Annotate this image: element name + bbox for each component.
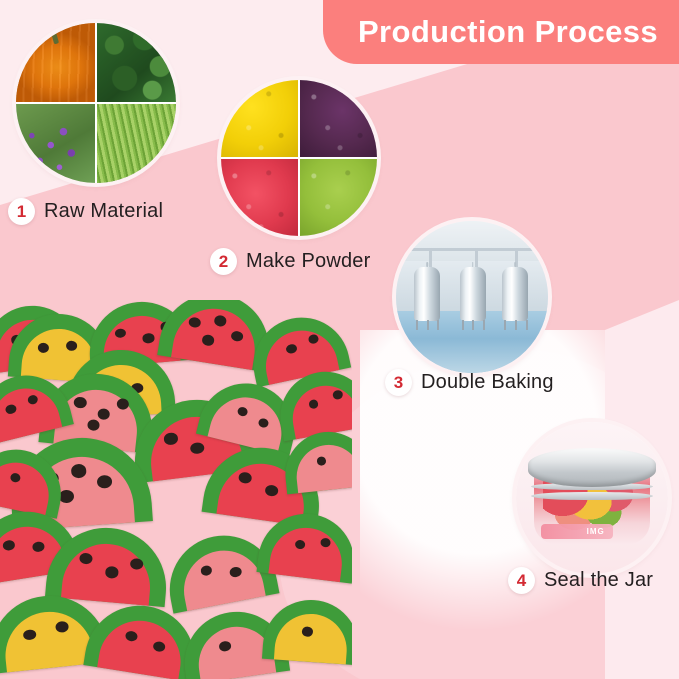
title-banner: Production Process — [323, 0, 679, 64]
jar-label: IMG — [541, 524, 613, 539]
quadrant-kale — [97, 23, 176, 102]
step-3-image-double-baking — [396, 221, 548, 373]
treat — [262, 597, 352, 666]
page-title: Production Process — [358, 14, 658, 50]
quadrant-grass — [97, 104, 176, 183]
production-process-infographic: Production Process 1 Raw Material 2 Make… — [0, 0, 679, 679]
raw-material-quadrants — [16, 23, 176, 183]
step-4-image-seal-the-jar: IMG — [516, 422, 668, 574]
powder-quadrants — [221, 80, 377, 236]
step-3-label-group: 3 Double Baking — [385, 369, 554, 396]
factory-tank-1-legs — [414, 320, 440, 331]
factory-tank-1 — [414, 267, 440, 322]
quadrant-red-powder — [221, 159, 298, 236]
quadrant-purple-powder — [300, 80, 377, 157]
quadrant-alfalfa-flowers — [16, 104, 95, 183]
quadrant-green-powder — [300, 159, 377, 236]
jar-photo: IMG — [516, 422, 668, 574]
jar-lid — [528, 448, 656, 488]
factory-tank-3-legs — [502, 320, 528, 331]
step-4-label: Seal the Jar — [544, 569, 653, 592]
step-1-number-badge: 1 — [8, 198, 35, 225]
product-photo-watermelon-treats — [0, 300, 352, 679]
step-2-label: Make Powder — [246, 250, 370, 273]
step-1-image-raw-material — [16, 23, 176, 183]
step-1-label-group: 1 Raw Material — [8, 198, 163, 225]
step-2-label-group: 2 Make Powder — [210, 248, 370, 275]
step-4-number-badge: 4 — [508, 567, 535, 594]
step-2-number-badge: 2 — [210, 248, 237, 275]
factory-ceiling — [396, 221, 548, 261]
step-4-label-group: 4 Seal the Jar — [508, 567, 653, 594]
step-3-number-badge: 3 — [385, 369, 412, 396]
factory-photo — [396, 221, 548, 373]
quadrant-yellow-powder — [221, 80, 298, 157]
jar-label-text: IMG — [587, 527, 605, 536]
step-3-label: Double Baking — [421, 371, 554, 394]
factory-tank-2-legs — [460, 320, 486, 331]
factory-tank-2 — [460, 267, 486, 322]
factory-tank-3 — [502, 267, 528, 322]
quadrant-pumpkin — [16, 23, 95, 102]
step-2-image-make-powder — [221, 80, 377, 236]
jar-thread-ring-2 — [531, 492, 653, 500]
step-1-label: Raw Material — [44, 200, 163, 223]
